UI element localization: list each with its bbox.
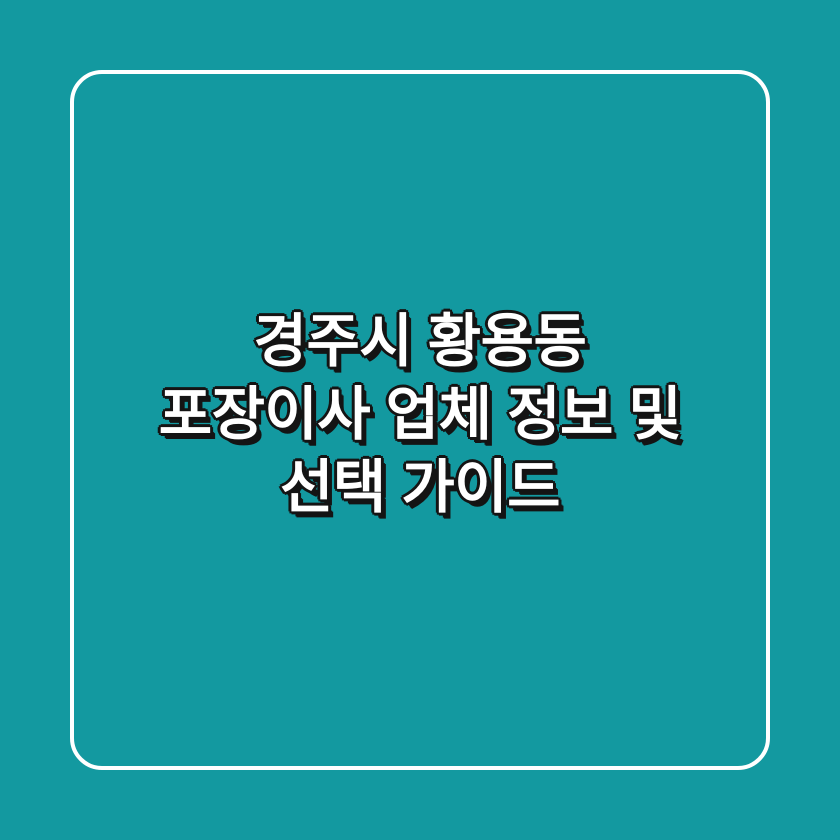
title-line-3: 선택 가이드 — [0, 451, 840, 524]
title-line-1: 경주시 황용동 — [0, 305, 840, 378]
title-line-2: 포장이사 업체 정보 및 — [0, 378, 840, 451]
title-block: 경주시 황용동 포장이사 업체 정보 및 선택 가이드 — [0, 0, 840, 840]
thumbnail-card: 경주시 황용동 포장이사 업체 정보 및 선택 가이드 — [0, 0, 840, 840]
